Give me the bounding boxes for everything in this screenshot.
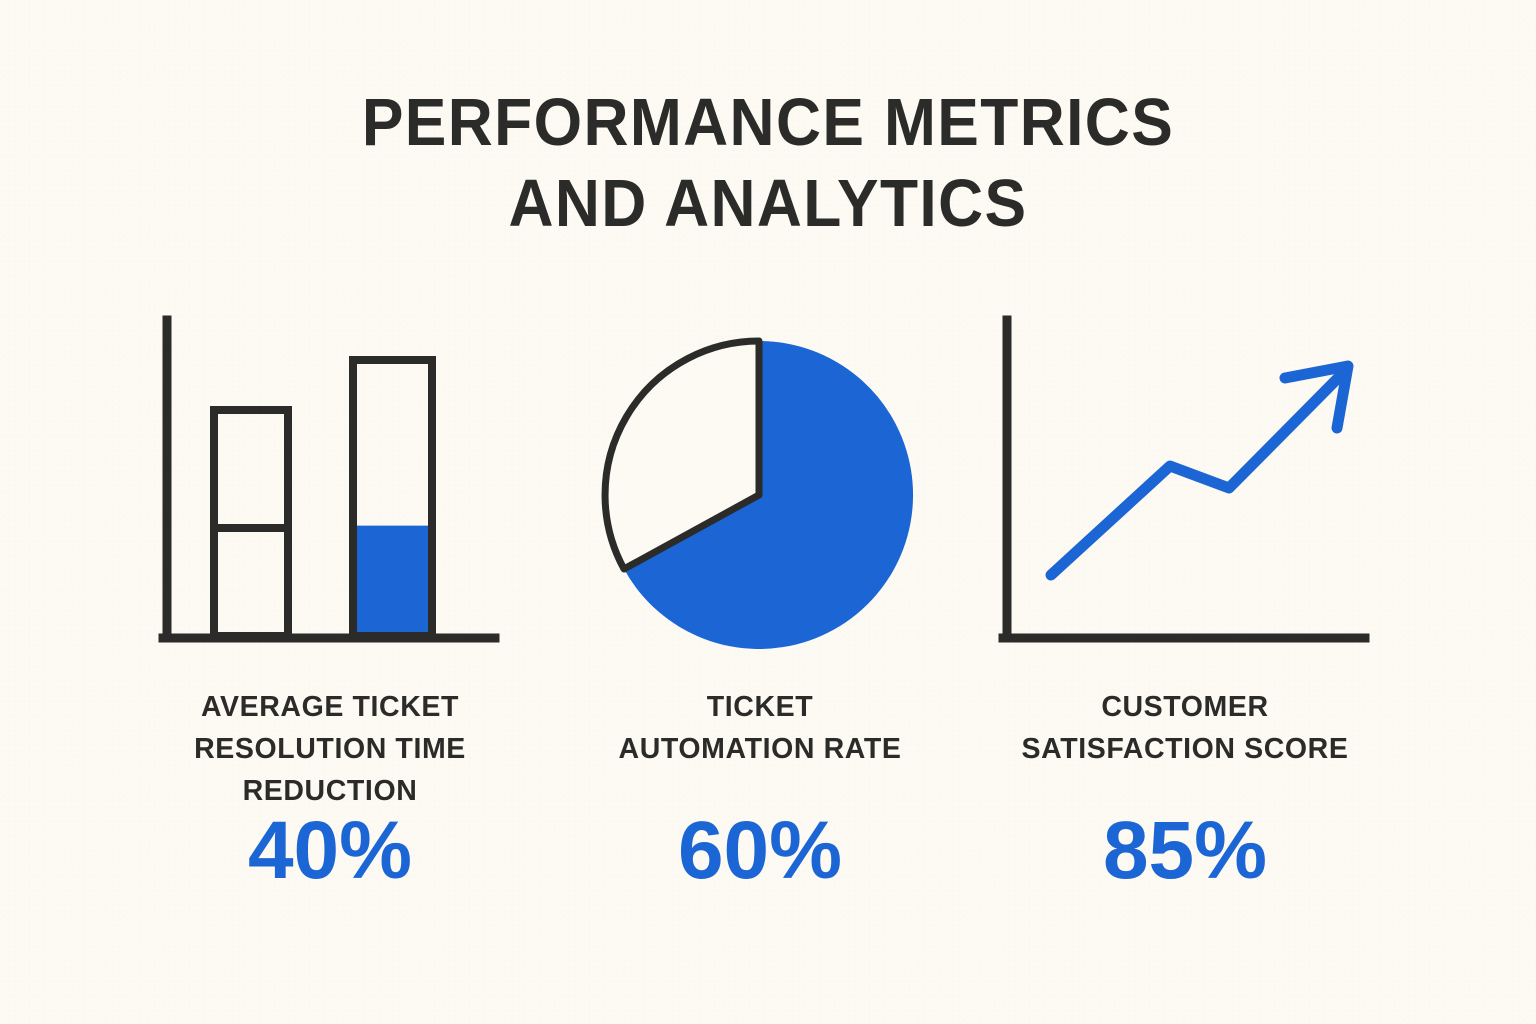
page-title: PERFORMANCE METRICS AND ANALYTICS <box>54 82 1482 244</box>
metric-card-customer-satisfaction-score <box>980 300 1400 700</box>
metric-caption-ticket-automation-rate: TICKET AUTOMATION RATE <box>530 686 990 770</box>
caption-line: AVERAGE TICKET <box>100 686 560 728</box>
page-title-line-2: AND ANALYTICS <box>54 163 1482 244</box>
metric-card-ticket-automation-rate <box>558 300 978 700</box>
metric-value-ticket-automation-rate: 60% <box>530 806 990 896</box>
infographic-poster: PERFORMANCE METRICS AND ANALYTICS AVERAG… <box>0 0 1536 1024</box>
line-chart-trend-line <box>1051 373 1343 575</box>
caption-line: CUSTOMER <box>955 686 1415 728</box>
metric-card-average-ticket-resolution-time-reduction <box>130 300 550 700</box>
page-title-line-1: PERFORMANCE METRICS <box>54 82 1482 163</box>
bar-chart-bar-2-fill <box>353 360 432 636</box>
metric-caption-average-ticket-resolution-time-reduction: AVERAGE TICKET RESOLUTION TIME REDUCTION <box>100 686 560 812</box>
metric-value-average-ticket-resolution-time-reduction: 40% <box>100 806 560 896</box>
line-chart-icon <box>980 300 1400 660</box>
pie-chart-icon <box>558 300 918 640</box>
caption-line: TICKET <box>530 686 990 728</box>
metric-value-customer-satisfaction-score: 85% <box>955 806 1415 896</box>
caption-line: AUTOMATION RATE <box>530 728 990 770</box>
caption-line: RESOLUTION TIME <box>100 728 560 770</box>
metric-caption-customer-satisfaction-score: CUSTOMER SATISFACTION SCORE <box>955 686 1415 770</box>
caption-line: SATISFACTION SCORE <box>955 728 1415 770</box>
bar-chart-icon <box>130 300 550 660</box>
bar-chart-bar-1 <box>214 410 288 636</box>
